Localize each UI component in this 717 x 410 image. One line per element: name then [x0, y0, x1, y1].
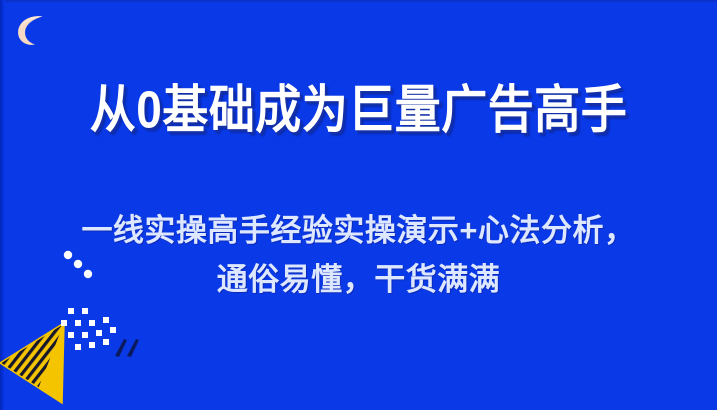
poster-title: 从0基础成为巨量广告高手 — [90, 84, 628, 136]
subtitle-container: 一线实操高手经验实操演示+心法分析， 通俗易懂，干货满满 — [0, 206, 717, 304]
crescent-moon-icon — [15, 13, 47, 47]
course-cover-poster: 从0基础成为巨量广告高手 一线实操高手经验实操演示+心法分析， 通俗易懂，干货满… — [0, 0, 717, 410]
top-edge-strip — [0, 0, 717, 3]
quote-mark-icon — [112, 334, 150, 364]
diagonal-dots-icon — [62, 248, 98, 282]
title-container: 从0基础成为巨量广告高手 — [0, 84, 717, 130]
poster-subtitle-line-2: 通俗易懂，干货满满 — [0, 255, 717, 304]
poster-subtitle-line-1: 一线实操高手经验实操演示+心法分析， — [0, 206, 717, 255]
